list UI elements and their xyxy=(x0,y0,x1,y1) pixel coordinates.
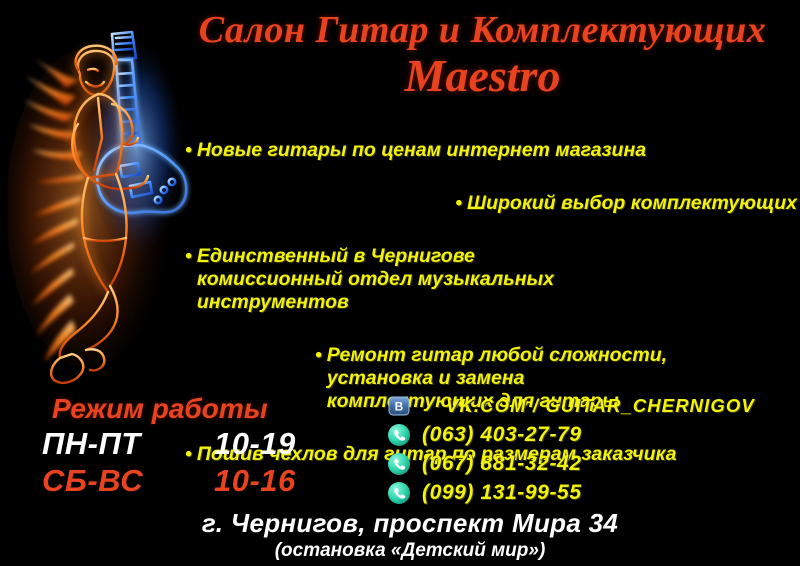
opening-hours-row-weekday: ПН-ПТ 10-19 xyxy=(42,425,372,462)
svg-text:B: B xyxy=(395,400,404,414)
contact-phone-text: (067) 881-32-42 xyxy=(422,452,582,476)
opening-hours-time: 10-16 xyxy=(214,462,296,499)
contacts-block: B VK.COM / GUITAR_CHERNIGOV xyxy=(386,392,796,508)
phone-icon xyxy=(386,422,412,448)
opening-hours-title: Режим работы xyxy=(52,392,372,425)
phone-icon xyxy=(386,451,412,477)
address-block: г. Чернигов, проспект Мира 34 (остановка… xyxy=(100,508,720,562)
headline-line-2-brand: Maestro xyxy=(170,50,795,102)
bullet-dot-icon: • xyxy=(455,192,462,214)
guitar-shop-advertisement-poster: Салон Гитар и Комплектующих Maestro •Нов… xyxy=(0,0,800,566)
list-item: •Широкий выбор комплектующих xyxy=(185,169,797,215)
contact-phone-text: (099) 131-99-55 xyxy=(422,481,582,505)
list-item: •Новые гитары по ценам интернет магазина xyxy=(185,116,797,162)
contact-row-vk[interactable]: B VK.COM / GUITAR_CHERNIGOV xyxy=(386,392,796,420)
opening-hours-block: Режим работы ПН-ПТ 10-19 СБ-ВС 10-16 xyxy=(42,392,372,499)
opening-hours-days: ПН-ПТ xyxy=(42,425,214,462)
contact-row-phone-1[interactable]: (063) 403-27-79 xyxy=(386,421,796,449)
list-item-text: Широкий выбор комплектующих xyxy=(467,192,797,215)
opening-hours-time: 10-19 xyxy=(214,425,296,462)
contact-phone-text: (063) 403-27-79 xyxy=(422,423,582,447)
list-item: •Единственный в Чернигове комиссионный о… xyxy=(185,222,797,314)
headline-line-1: Салон Гитар и Комплектующих xyxy=(170,8,795,52)
contact-vk-text: VK.COM / GUITAR_CHERNIGOV xyxy=(446,394,755,418)
contact-row-phone-2[interactable]: (067) 881-32-42 xyxy=(386,450,796,478)
bullet-dot-icon: • xyxy=(185,139,192,161)
address-main: г. Чернигов, проспект Мира 34 xyxy=(100,508,720,538)
bullet-dot-icon: • xyxy=(185,245,192,267)
bullet-dot-icon: • xyxy=(315,344,322,366)
contact-row-phone-3[interactable]: (099) 131-99-55 xyxy=(386,479,796,507)
vk-icon: B xyxy=(386,393,412,419)
opening-hours-row-weekend: СБ-ВС 10-16 xyxy=(42,462,372,499)
poster-headline: Салон Гитар и Комплектующих Maestro xyxy=(170,8,795,102)
list-item-text: Новые гитары по ценам интернет магазина xyxy=(197,139,646,162)
list-item-text: Единственный в Чернигове комиссионный от… xyxy=(197,245,554,314)
opening-hours-days: СБ-ВС xyxy=(42,462,214,499)
phone-icon xyxy=(386,480,412,506)
address-landmark: (остановка «Детский мир») xyxy=(100,539,720,562)
